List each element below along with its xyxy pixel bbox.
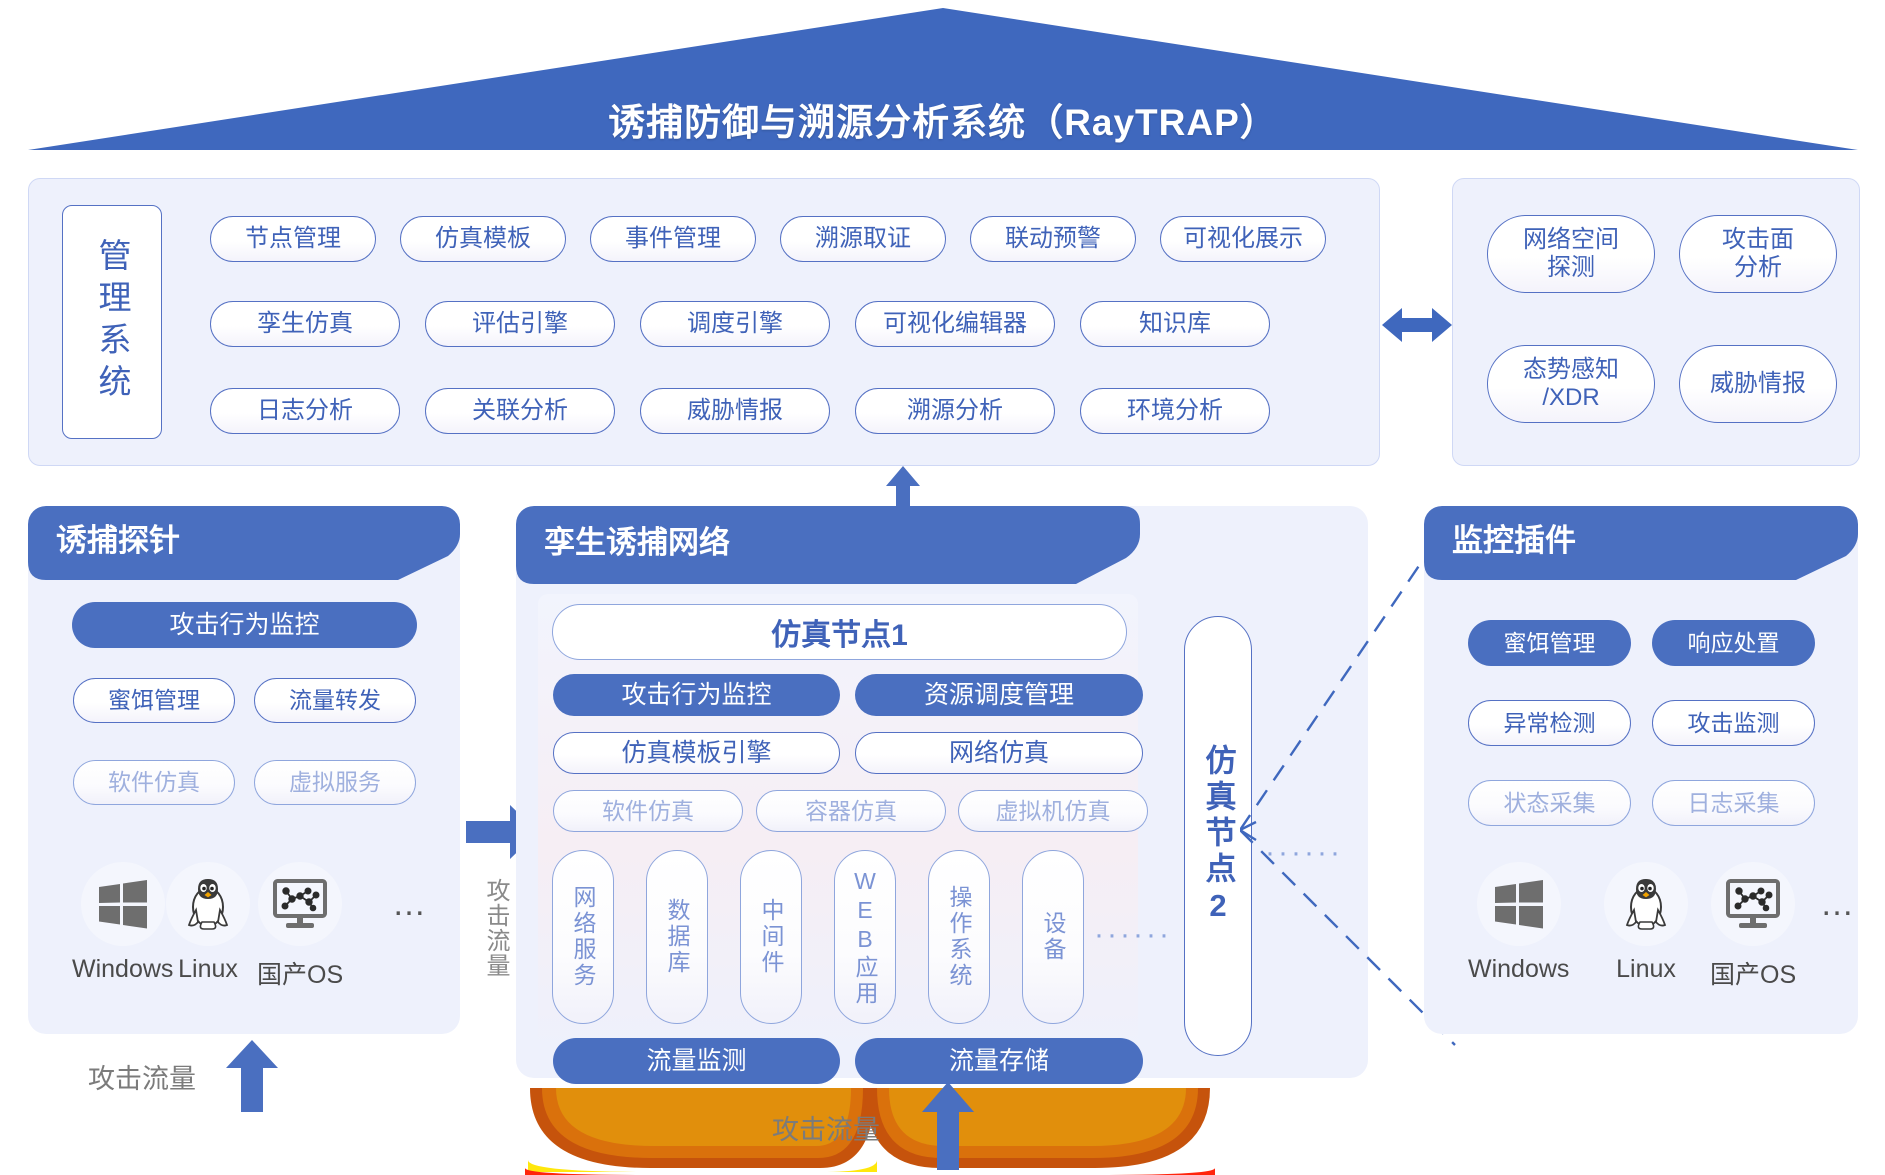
plugin-os-windows-label: Windows bbox=[1468, 955, 1569, 984]
probe-pill-virtual-service[interactable]: 虚拟服务 bbox=[254, 760, 416, 805]
mgmt-pill-linked-alert[interactable]: 联动预警 bbox=[970, 216, 1136, 262]
mgmt-pill-sim-template[interactable]: 仿真模板 bbox=[400, 216, 566, 262]
node1-pill-resource-schedule[interactable]: 资源调度管理 bbox=[855, 674, 1143, 716]
probe-pill-traffic-forward[interactable]: 流量转发 bbox=[254, 678, 416, 723]
plugin-os-linux: Linux bbox=[1604, 862, 1688, 984]
node1-vpill-more-dots: ······ bbox=[1094, 918, 1172, 952]
node1-vpill-database[interactable]: 数据库 bbox=[646, 850, 708, 1024]
plugin-os-domestic-label: 国产OS bbox=[1710, 955, 1796, 991]
node1-pill-container-sim[interactable]: 容器仿真 bbox=[756, 790, 946, 832]
node1-pill-traffic-monitor[interactable]: 流量监测 bbox=[553, 1038, 840, 1084]
node1-vpill-device[interactable]: 设备 bbox=[1022, 850, 1084, 1024]
node1-pill-vm-sim[interactable]: 虚拟机仿真 bbox=[958, 790, 1148, 832]
mgmt-pill-correlation-analysis[interactable]: 关联分析 bbox=[425, 388, 615, 434]
probe-os-linux: Linux bbox=[166, 862, 250, 984]
flow-label-bottom-center: 攻击流量 bbox=[772, 1108, 880, 1147]
arrow-bottom-left-up bbox=[226, 1040, 278, 1117]
ext-pill-threat-intelligence[interactable]: 威胁情报 bbox=[1679, 345, 1837, 423]
probe-os-more-dots: … bbox=[392, 885, 428, 924]
mgmt-pill-twin-simulation[interactable]: 孪生仿真 bbox=[210, 301, 400, 347]
node1-pill-network-sim[interactable]: 网络仿真 bbox=[855, 732, 1143, 774]
mgmt-pill-threat-intel[interactable]: 威胁情报 bbox=[640, 388, 830, 434]
twin-header-title: 孪生诱捕网络 bbox=[516, 508, 1140, 570]
linux-penguin-icon bbox=[166, 862, 250, 946]
node1-vpill-network-service[interactable]: 网络服务 bbox=[552, 850, 614, 1024]
node1-pill-traffic-storage[interactable]: 流量存储 bbox=[855, 1038, 1143, 1084]
node1-vpill-web-app[interactable]: WEB应用 bbox=[834, 850, 896, 1024]
plugin-os-windows: Windows bbox=[1468, 862, 1569, 984]
node1-pill-software-sim[interactable]: 软件仿真 bbox=[553, 790, 743, 832]
probe-pill-software-sim[interactable]: 软件仿真 bbox=[73, 760, 235, 805]
node1-vpill-middleware[interactable]: 中间件 bbox=[740, 850, 802, 1024]
ext-pill-situational-awareness-xdr[interactable]: 态势感知 /XDR bbox=[1487, 345, 1655, 423]
probe-os-windows-label: Windows bbox=[72, 955, 173, 984]
mgmt-pill-trace-forensics[interactable]: 溯源取证 bbox=[780, 216, 946, 262]
mgmt-pill-visual-editor[interactable]: 可视化编辑器 bbox=[855, 301, 1055, 347]
probe-header-title: 诱捕探针 bbox=[28, 506, 460, 568]
windows-icon bbox=[81, 862, 165, 946]
node1-vpill-operating-system[interactable]: 操作系统 bbox=[928, 850, 990, 1024]
domestic-os-monitor-icon bbox=[258, 862, 342, 946]
mgmt-pill-visualization[interactable]: 可视化展示 bbox=[1160, 216, 1326, 262]
ext-pill-attack-surface-analysis[interactable]: 攻击面 分析 bbox=[1679, 215, 1837, 293]
mgmt-pill-event-management[interactable]: 事件管理 bbox=[590, 216, 756, 262]
node1-pill-attack-monitor[interactable]: 攻击行为监控 bbox=[553, 674, 840, 716]
mgmt-pill-evaluation-engine[interactable]: 评估引擎 bbox=[425, 301, 615, 347]
page-title: 诱捕防御与溯源分析系统（RayTRAP） bbox=[28, 92, 1858, 146]
windows-icon bbox=[1477, 862, 1561, 946]
plugin-pill-anomaly-detection[interactable]: 异常检测 bbox=[1468, 700, 1631, 746]
plugin-pill-honeybait-mgmt[interactable]: 蜜饵管理 bbox=[1468, 620, 1631, 666]
plugin-header-title: 监控插件 bbox=[1424, 506, 1858, 568]
ext-pill-cyberspace-detection[interactable]: 网络空间 探测 bbox=[1487, 215, 1655, 293]
plugin-os-linux-label: Linux bbox=[1616, 955, 1676, 984]
probe-os-windows: Windows bbox=[72, 862, 173, 984]
linux-penguin-icon bbox=[1604, 862, 1688, 946]
probe-primary-attack-monitor[interactable]: 攻击行为监控 bbox=[72, 602, 417, 648]
probe-os-domestic: 国产OS bbox=[257, 862, 343, 991]
mgmt-pill-env-analysis[interactable]: 环境分析 bbox=[1080, 388, 1270, 434]
flow-label-probe-to-twin: 攻击流量 bbox=[478, 878, 513, 978]
plugin-pill-attack-detection[interactable]: 攻击监测 bbox=[1652, 700, 1815, 746]
domestic-os-monitor-icon bbox=[1711, 862, 1795, 946]
plugin-pill-status-collection[interactable]: 状态采集 bbox=[1468, 780, 1631, 826]
title-banner: 诱捕防御与溯源分析系统（RayTRAP） bbox=[28, 4, 1858, 154]
sim-node1-title: 仿真节点1 bbox=[552, 604, 1127, 660]
mgmt-pill-scheduling-engine[interactable]: 调度引擎 bbox=[640, 301, 830, 347]
mgmt-pill-log-analysis[interactable]: 日志分析 bbox=[210, 388, 400, 434]
probe-os-domestic-label: 国产OS bbox=[257, 955, 343, 991]
flow-label-bottom-left: 攻击流量 bbox=[88, 1057, 196, 1096]
arrow-mgmt-to-external bbox=[1382, 300, 1452, 355]
plugin-pill-log-collection[interactable]: 日志采集 bbox=[1652, 780, 1815, 826]
mgmt-pill-node-management[interactable]: 节点管理 bbox=[210, 216, 376, 262]
probe-os-linux-label: Linux bbox=[178, 955, 238, 984]
plugin-pill-response-handling[interactable]: 响应处置 bbox=[1652, 620, 1815, 666]
management-system-label: 管理系统 bbox=[62, 205, 162, 439]
arrow-bottom-center-up bbox=[922, 1082, 974, 1175]
plugin-os-domestic: 国产OS bbox=[1710, 862, 1796, 991]
probe-pill-honeybait-mgmt[interactable]: 蜜饵管理 bbox=[73, 678, 235, 723]
mgmt-pill-trace-analysis[interactable]: 溯源分析 bbox=[855, 388, 1055, 434]
mgmt-pill-knowledge-base[interactable]: 知识库 bbox=[1080, 301, 1270, 347]
plugin-os-more-dots: … bbox=[1820, 885, 1856, 924]
node1-pill-sim-template-engine[interactable]: 仿真模板引擎 bbox=[553, 732, 840, 774]
